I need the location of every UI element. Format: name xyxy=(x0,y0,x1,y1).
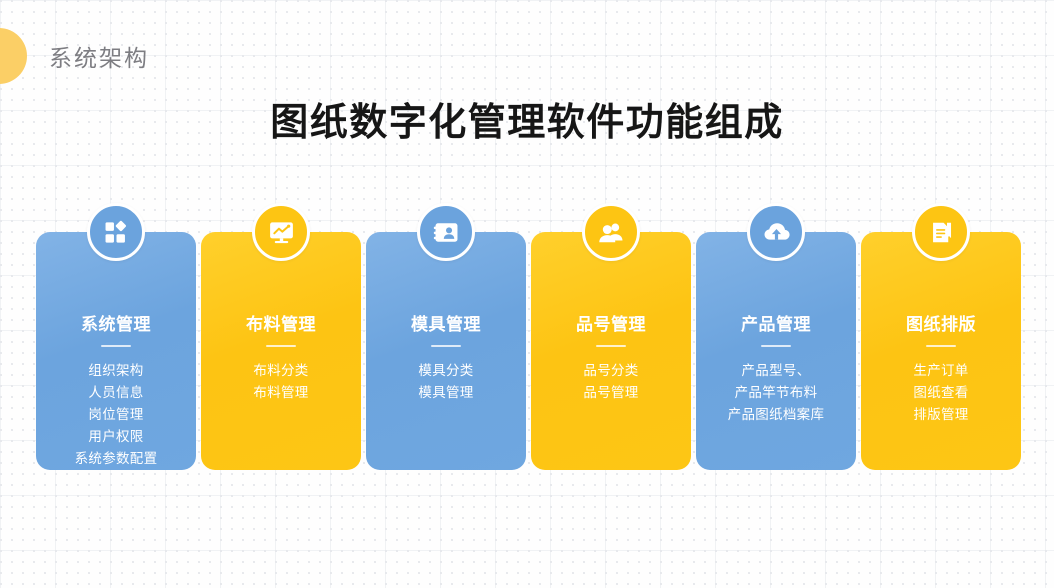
feature-card-divider xyxy=(266,345,296,347)
feature-card-item: 排版管理 xyxy=(869,404,1013,426)
feature-card-title: 品号管理 xyxy=(576,316,646,333)
feature-card-item: 用户权限 xyxy=(44,426,188,448)
decorative-circle xyxy=(0,28,27,84)
monitor-chart-icon xyxy=(252,203,310,261)
page-title: 图纸数字化管理软件功能组成 xyxy=(0,101,1054,147)
feature-card-divider xyxy=(926,345,956,347)
feature-card[interactable]: 产品管理产品型号、产品竿节布料产品图纸档案库 xyxy=(696,203,856,470)
feature-card-item-list: 组织架构人员信息岗位管理用户权限系统参数配置 xyxy=(44,360,188,470)
feature-card-body: 产品管理产品型号、产品竿节布料产品图纸档案库 xyxy=(696,232,856,470)
feature-card-body: 模具管理模具分类模具管理 xyxy=(366,232,526,470)
feature-card-item: 模具管理 xyxy=(374,382,518,404)
feature-card-item: 图纸查看 xyxy=(869,382,1013,404)
feature-card-body: 布料管理布料分类布料管理 xyxy=(201,232,361,470)
feature-card-item-list: 品号分类品号管理 xyxy=(539,360,683,404)
feature-card-item: 品号分类 xyxy=(539,360,683,382)
feature-card-item-list: 生产订单图纸查看排版管理 xyxy=(869,360,1013,426)
feature-card-body: 品号管理品号分类品号管理 xyxy=(531,232,691,470)
feature-card-title: 产品管理 xyxy=(741,316,811,333)
feature-card-list: 系统管理组织架构人员信息岗位管理用户权限系统参数配置布料管理布料分类布料管理模具… xyxy=(36,203,1018,470)
cloud-upload-icon xyxy=(747,203,805,261)
feature-card-item: 布料管理 xyxy=(209,382,353,404)
feature-card-divider xyxy=(101,345,131,347)
feature-card[interactable]: 模具管理模具分类模具管理 xyxy=(366,203,526,470)
feature-card-divider xyxy=(761,345,791,347)
feature-card-item: 产品图纸档案库 xyxy=(704,404,848,426)
feature-card-title: 图纸排版 xyxy=(906,316,976,333)
feature-card-divider xyxy=(431,345,461,347)
feature-card-title: 系统管理 xyxy=(81,316,151,333)
feature-card-item-list: 模具分类模具管理 xyxy=(374,360,518,404)
feature-card-item-list: 布料分类布料管理 xyxy=(209,360,353,404)
feature-card-title: 布料管理 xyxy=(246,316,316,333)
document-bookmark-icon xyxy=(912,203,970,261)
feature-card-item: 组织架构 xyxy=(44,360,188,382)
section-eyebrow: 系统架构 xyxy=(0,27,149,85)
feature-card-item: 品号管理 xyxy=(539,382,683,404)
feature-card-item: 岗位管理 xyxy=(44,404,188,426)
feature-card-divider xyxy=(596,345,626,347)
feature-card-item: 产品竿节布料 xyxy=(704,382,848,404)
feature-card-item: 系统参数配置 xyxy=(44,448,188,470)
feature-card-item: 模具分类 xyxy=(374,360,518,382)
feature-card-item: 人员信息 xyxy=(44,382,188,404)
slide-canvas: 系统架构 图纸数字化管理软件功能组成 系统管理组织架构人员信息岗位管理用户权限系… xyxy=(0,0,1054,588)
feature-card-body: 图纸排版生产订单图纸查看排版管理 xyxy=(861,232,1021,470)
feature-card-item: 生产订单 xyxy=(869,360,1013,382)
dashboard-grid-icon xyxy=(87,203,145,261)
feature-card-title: 模具管理 xyxy=(411,316,481,333)
feature-card[interactable]: 品号管理品号分类品号管理 xyxy=(531,203,691,470)
feature-card[interactable]: 布料管理布料分类布料管理 xyxy=(201,203,361,470)
feature-card-item: 产品型号、 xyxy=(704,360,848,382)
feature-card-item-list: 产品型号、产品竿节布料产品图纸档案库 xyxy=(704,360,848,426)
users-group-icon xyxy=(582,203,640,261)
section-label: 系统架构 xyxy=(49,39,149,73)
id-card-icon xyxy=(417,203,475,261)
feature-card-item: 布料分类 xyxy=(209,360,353,382)
feature-card[interactable]: 系统管理组织架构人员信息岗位管理用户权限系统参数配置 xyxy=(36,203,196,470)
feature-card-body: 系统管理组织架构人员信息岗位管理用户权限系统参数配置 xyxy=(36,232,196,470)
feature-card[interactable]: 图纸排版生产订单图纸查看排版管理 xyxy=(861,203,1021,470)
